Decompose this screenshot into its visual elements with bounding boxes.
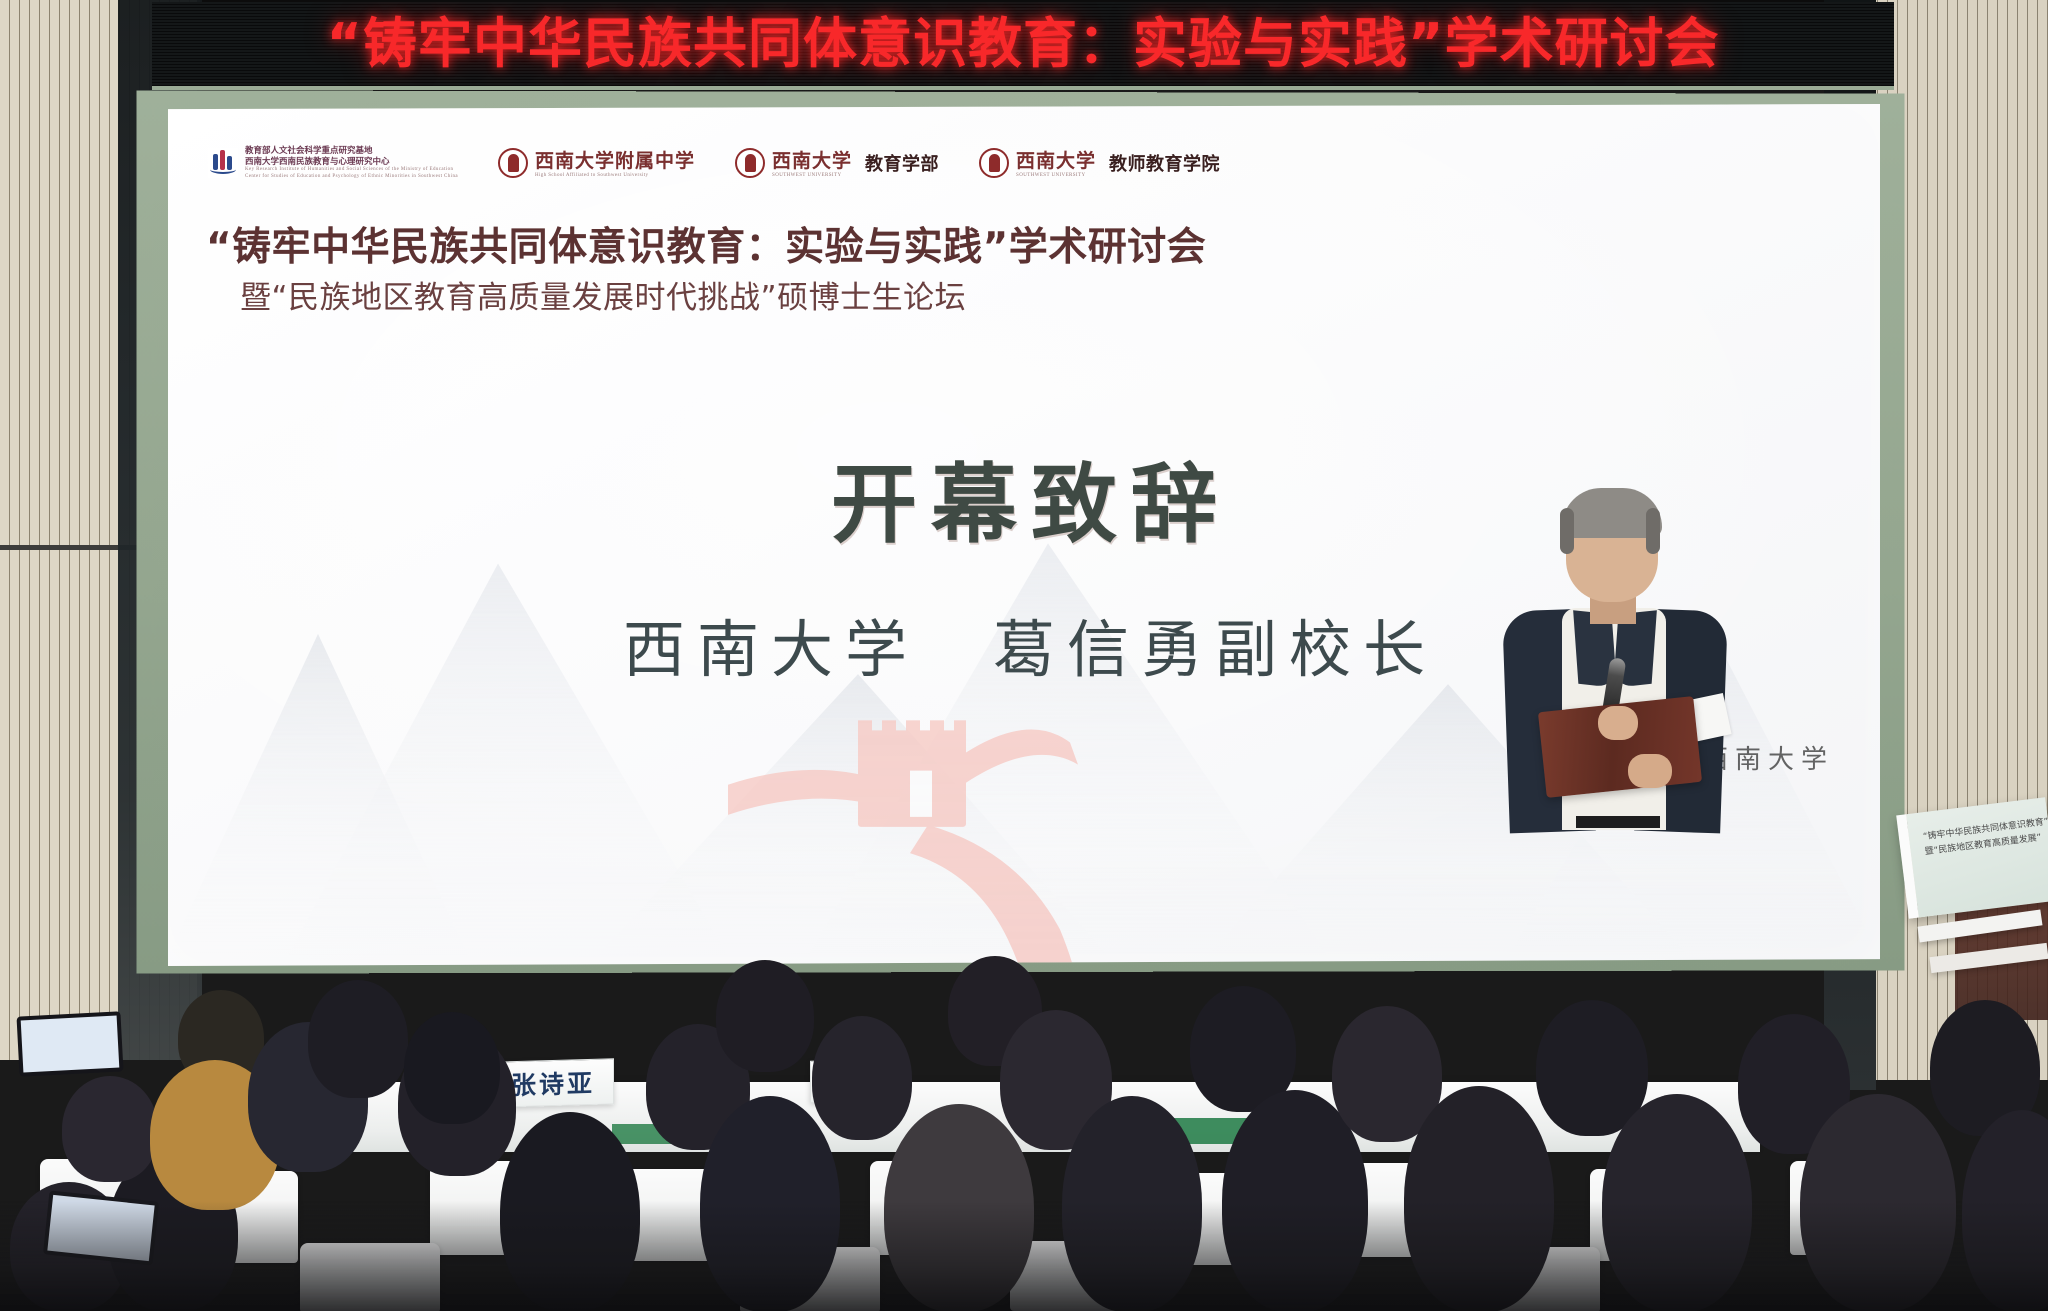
logo-department: 教育学部 [865,150,939,176]
slide-logo-row: 教育部人文社会科学重点研究基地 西南大学西南民族教育与心理研究中心 Key Re… [208,146,1220,180]
conference-program-booklet: “铸牢中华民族共同体意识教育” 暨“民族地区教育高质量发展” [1896,797,2048,919]
audience-member [1404,1086,1554,1311]
logo-swu-faculty-of-education: 西南大学 SOUTHWEST UNIVERSITY 教育学部 [735,146,939,180]
audience-member [404,1012,500,1124]
audience-member [812,1016,912,1140]
speaker-belt [1576,816,1660,828]
audience-member [1602,1094,1752,1311]
chair [300,1243,440,1311]
logo-en-2: Center for Studies of Education and Psyc… [245,174,458,181]
logo-swu-teacher-education-college: 西南大学 SOUTHWEST UNIVERSITY 教师教育学院 [979,146,1220,180]
logo-department: 教师教育学院 [1109,150,1220,176]
audience-member [1800,1094,1956,1311]
audience-member [700,1096,840,1311]
audience-member [1062,1096,1202,1311]
slide-title: “铸牢中华民族共同体意识教育：实验与实践”学术研讨会 [206,216,1206,272]
phone-screen-lower-left [43,1190,159,1265]
slide-subtitle: 暨“民族地区教育高质量发展时代挑战”硕博士生论坛 [240,272,966,317]
logo-en-1: SOUTHWEST UNIVERSITY [772,173,852,180]
logo-line-1: 西南大学 [1016,146,1096,173]
logo-line-1: 教育部人文社会科学重点研究基地 [245,146,458,157]
swu-seal-icon [979,148,1009,178]
speaker-hair-side-right [1646,508,1660,554]
speaker-hand-left [1628,754,1672,788]
swu-seal-icon [735,148,765,178]
conference-hall-scene: “铸牢中华民族共同体意识教育：实验与实践”学术研讨会 [0,0,2048,1311]
speaker-person [1480,492,1746,832]
audience-member [62,1076,158,1182]
led-banner: “铸牢中华民族共同体意识教育：实验与实践”学术研讨会 [152,2,1894,90]
led-banner-text: “铸牢中华民族共同体意识教育：实验与实践”学术研讨会 [327,17,1720,71]
logo-line-1: 西南大学附属中学 [535,146,695,173]
audience-member [884,1104,1034,1311]
audience-member [500,1112,640,1311]
speaker-hair-side-left [1560,508,1574,554]
logo-mhe-research-base: 教育部人文社会科学重点研究基地 西南大学西南民族教育与心理研究中心 Key Re… [208,146,458,180]
speaker-hand-right [1598,706,1638,740]
logo-en-1: High School Affiliated to Southwest Univ… [535,173,695,180]
logo-swu-affiliated-high-school: 西南大学附属中学 High School Affiliated to South… [498,146,695,180]
logo-en-1: SOUTHWEST UNIVERSITY [1016,173,1096,180]
phone-screen-upper-left [17,1011,124,1076]
logo-line-1: 西南大学 [772,146,852,173]
swu-seal-icon [498,148,528,178]
audience-member [308,980,408,1098]
institute-emblem-icon [208,148,238,178]
logo-line-2: 西南大学西南民族教育与心理研究中心 [245,157,458,168]
audience-member [716,960,814,1072]
